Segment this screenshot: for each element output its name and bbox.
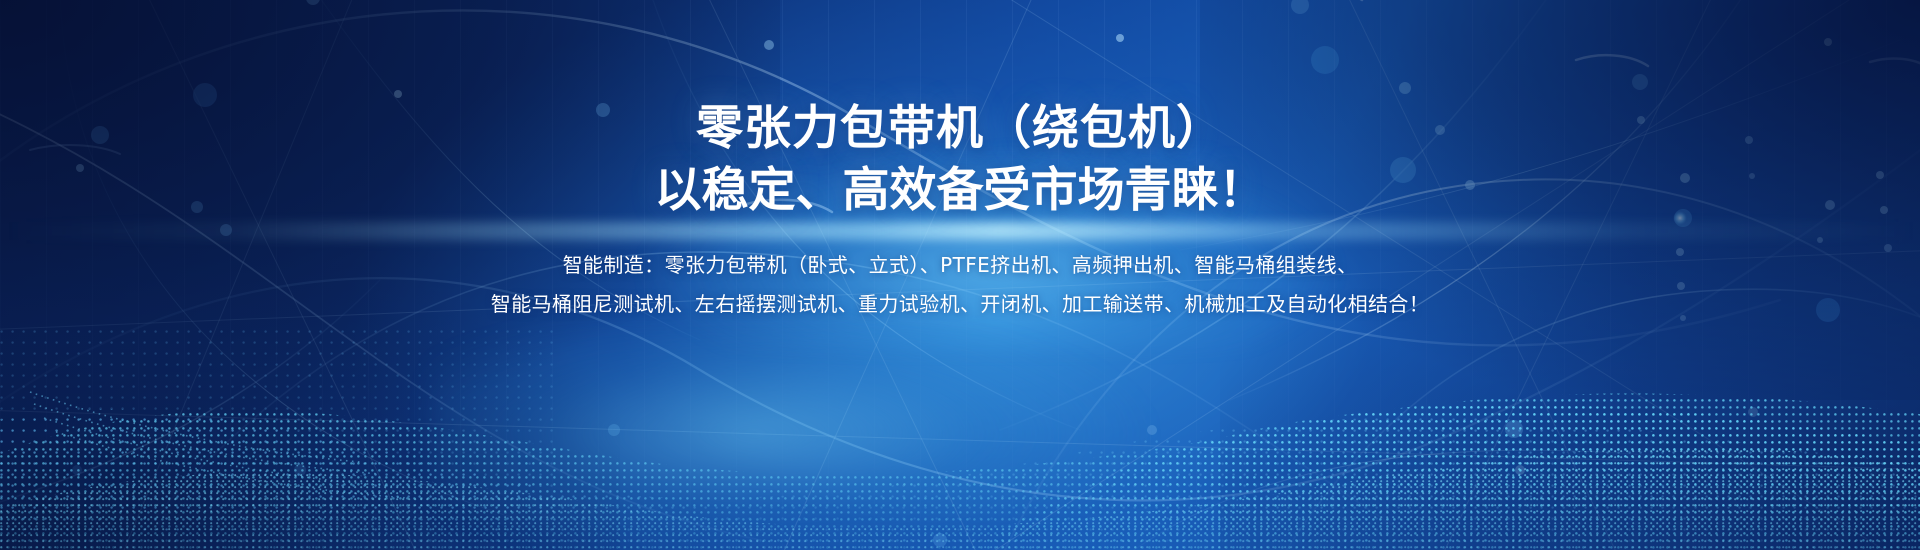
hero-banner: 零张力包带机（绕包机） 以稳定、高效备受市场青睐！ 智能制造：零张力包带机（卧式…: [0, 0, 1920, 550]
banner-subtitle-line1: 智能制造：零张力包带机（卧式、立式）、PTFE挤出机、高频押出机、智能马桶组装线…: [491, 246, 1429, 285]
banner-subtitle-line2: 智能马桶阻尼测试机、左右摇摆测试机、重力试验机、开闭机、加工输送带、机械加工及自…: [491, 285, 1429, 324]
banner-content: 零张力包带机（绕包机） 以稳定、高效备受市场青睐！ 智能制造：零张力包带机（卧式…: [0, 0, 1920, 550]
banner-title-line1: 零张力包带机（绕包机）: [696, 98, 1224, 160]
banner-subtitle-group: 智能制造：零张力包带机（卧式、立式）、PTFE挤出机、高频押出机、智能马桶组装线…: [491, 246, 1429, 324]
banner-title-line2: 以稳定、高效备受市场青睐！: [655, 160, 1266, 222]
